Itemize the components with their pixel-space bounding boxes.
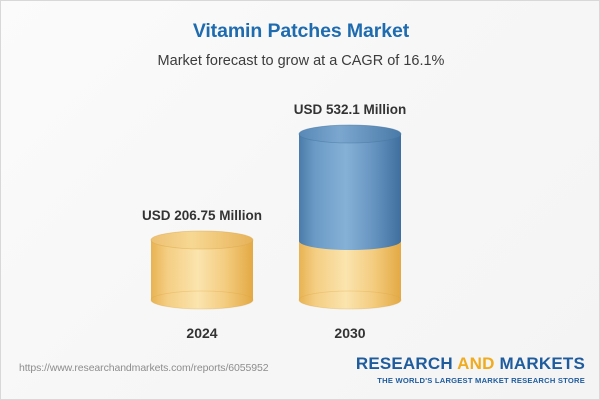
cylinder-2030-shape [299, 125, 401, 309]
logo-word-markets: MARKETS [500, 354, 585, 373]
report-url-link[interactable]: https://www.researchandmarkets.com/repor… [19, 362, 268, 374]
logo-word-research: RESEARCH [356, 354, 453, 373]
logo-tagline: THE WORLD'S LARGEST MARKET RESEARCH STOR… [356, 376, 585, 385]
cylinder-2030[interactable] [299, 125, 401, 309]
value-label-2024: USD 206.75 Million [115, 208, 289, 223]
cylinder-2024[interactable] [151, 231, 253, 309]
value-label-2030: USD 532.1 Million [263, 102, 437, 117]
infographic-canvas: Vitamin Patches Market Market forecast t… [0, 0, 600, 400]
logo-word-and: AND [457, 354, 494, 373]
category-label-2030: 2030 [275, 325, 425, 341]
category-label-2024: 2024 [127, 325, 277, 341]
chart-plot-area: USD 206.75 Million [1, 1, 600, 349]
research-and-markets-logo[interactable]: RESEARCH AND MARKETS THE WORLD'S LARGEST… [356, 354, 585, 385]
cylinder-2024-shape [151, 231, 253, 309]
footer: https://www.researchandmarkets.com/repor… [1, 349, 600, 399]
logo-wordmark: RESEARCH AND MARKETS [356, 354, 585, 374]
